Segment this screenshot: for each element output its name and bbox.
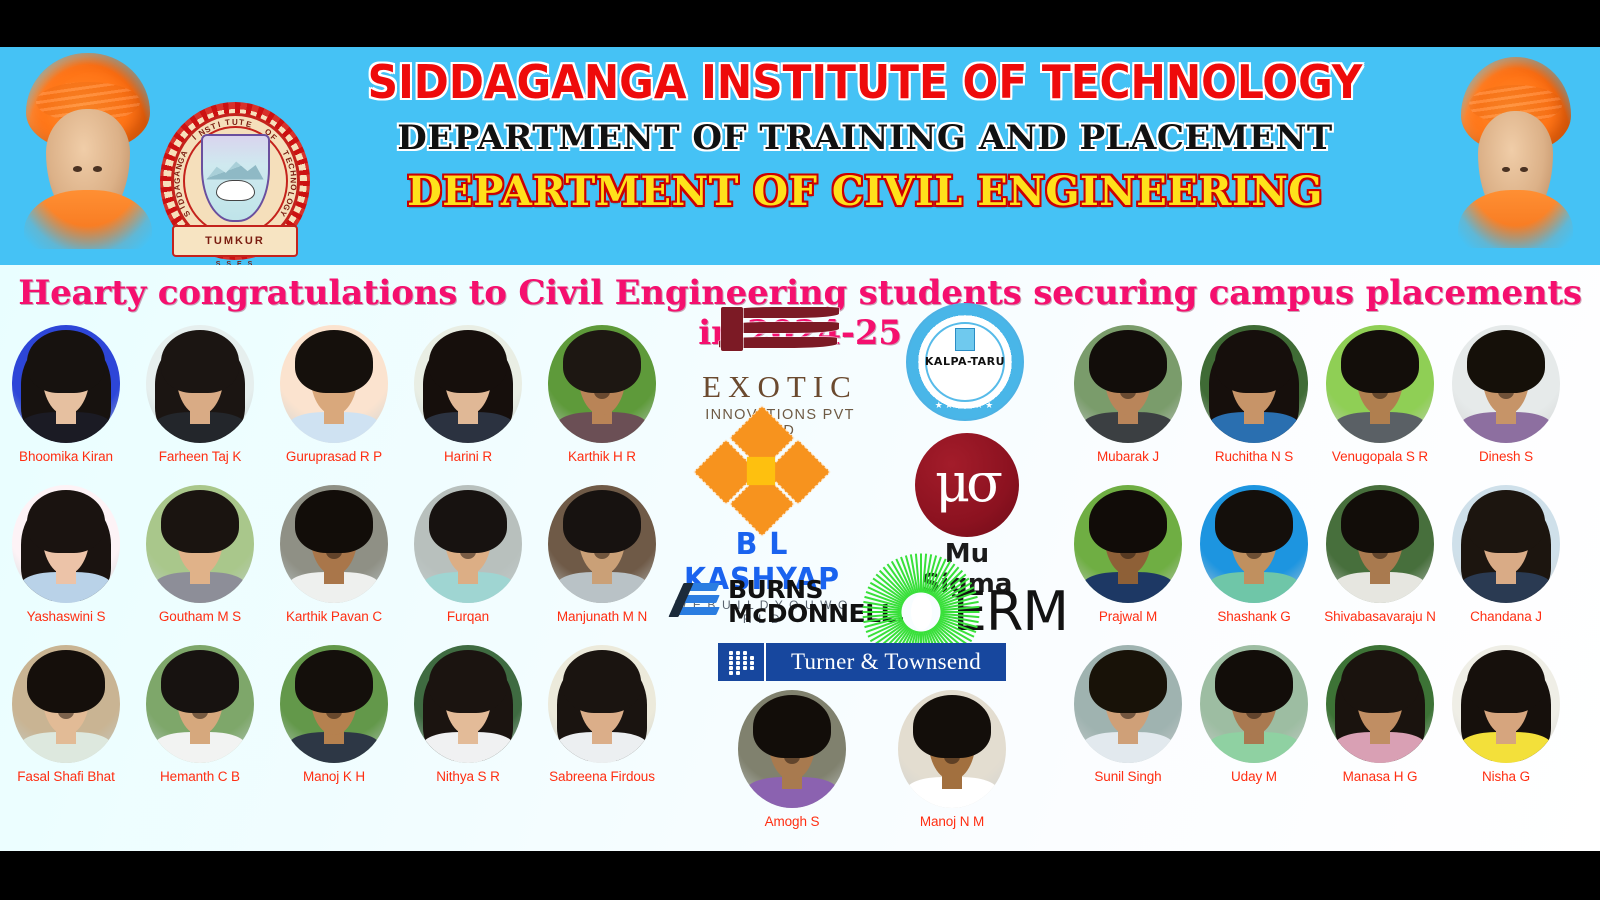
student-photo	[1200, 485, 1308, 603]
student-photo	[280, 325, 388, 443]
student-card: Ruchitha N S	[1194, 325, 1314, 464]
student-card: Chandana J	[1446, 485, 1566, 624]
logo-erm: ERM	[898, 573, 1068, 651]
student-name: Manjunath M N	[542, 609, 662, 624]
student-name: Amogh S	[732, 814, 852, 829]
student-card: Manjunath M N	[542, 485, 662, 624]
student-name: Farheen Taj K	[140, 449, 260, 464]
student-photo	[1074, 645, 1182, 763]
student-photo	[548, 485, 656, 603]
student-card: Fasal Shafi Bhat	[6, 645, 126, 784]
student-card: Furqan	[408, 485, 528, 624]
student-card: Karthik Pavan C	[274, 485, 394, 624]
student-card: Shashank G	[1194, 485, 1314, 624]
exotic-flag-icon	[715, 307, 845, 365]
sit-institute-seal-logo: SIDDAGANGA INSTITUTE OF TECHNOLOGY TUMKU…	[160, 102, 310, 260]
student-card: Prajwal M	[1068, 485, 1188, 624]
student-photo	[12, 325, 120, 443]
student-card: Goutham M S	[140, 485, 260, 624]
student-card: Shivabasavaraju N	[1320, 485, 1440, 624]
student-card: Yashaswini S	[6, 485, 126, 624]
student-photo	[898, 690, 1006, 808]
student-photo	[280, 485, 388, 603]
student-photo	[1452, 325, 1560, 443]
student-photo	[12, 645, 120, 763]
student-name: Shashank G	[1194, 609, 1314, 624]
student-photo	[146, 485, 254, 603]
logo-kalpataru-projects: KALPA-TARU ★★★★★★	[905, 303, 1025, 421]
student-name: Venugopala S R	[1320, 449, 1440, 464]
student-name: Manoj N M	[892, 814, 1012, 829]
student-name: Shivabasavaraju N	[1320, 609, 1440, 624]
turner-townsend-wordmark: Turner & Townsend	[766, 649, 1006, 675]
turner-townsend-dots-icon	[718, 643, 766, 681]
department-civil-engineering: DEPARTMENT OF CIVIL ENGINEERING	[305, 163, 1425, 221]
student-photo	[548, 645, 656, 763]
student-photo	[1326, 485, 1434, 603]
student-photo	[414, 325, 522, 443]
student-name: Dinesh S	[1446, 449, 1566, 464]
student-card: Uday M	[1194, 645, 1314, 784]
swamiji-portrait-right-photo	[1453, 57, 1578, 237]
student-card: Amogh S	[732, 690, 852, 829]
logo-burns-mcdonnell: BURNS MᴄDONNELL.	[674, 575, 874, 631]
swamiji-portrait-left-photo	[18, 53, 158, 238]
placement-poster: SIDDAGANGA INSTITUTE OF TECHNOLOGY TUMKU…	[0, 0, 1600, 900]
student-photo	[146, 325, 254, 443]
student-name: Karthik Pavan C	[274, 609, 394, 624]
student-name: Prajwal M	[1068, 609, 1188, 624]
student-name: Sabreena Firdous	[542, 769, 662, 784]
student-photo	[414, 645, 522, 763]
student-name: Bhoomika Kiran	[6, 449, 126, 464]
student-name: Furqan	[408, 609, 528, 624]
student-name: Sunil Singh	[1068, 769, 1188, 784]
student-name: Uday M	[1194, 769, 1314, 784]
student-photo	[1074, 485, 1182, 603]
student-card: Mubarak J	[1068, 325, 1188, 464]
student-photo	[414, 485, 522, 603]
student-card: Dinesh S	[1446, 325, 1566, 464]
student-name: Hemanth C B	[140, 769, 260, 784]
student-name: Mubarak J	[1068, 449, 1188, 464]
poster-header: SIDDAGANGA INSTITUTE OF TECHNOLOGY TUMKU…	[0, 47, 1600, 265]
student-card: Nithya S R	[408, 645, 528, 784]
student-name: Yashaswini S	[6, 609, 126, 624]
student-name: Manasa H G	[1320, 769, 1440, 784]
bl-kashyap-diamond-icon	[697, 415, 827, 527]
student-photo	[1074, 325, 1182, 443]
mcdonnell-wordmark: MᴄDONNELL.	[728, 599, 874, 628]
exotic-wordmark: EXOTIC	[690, 369, 870, 405]
student-photo	[1452, 645, 1560, 763]
student-card: Bhoomika Kiran	[6, 325, 126, 464]
student-name: Fasal Shafi Bhat	[6, 769, 126, 784]
student-name: Harini R	[408, 449, 528, 464]
student-photo	[738, 690, 846, 808]
student-card: Sunil Singh	[1068, 645, 1188, 784]
poster-body: Hearty congratulations to Civil Engineer…	[0, 265, 1600, 851]
student-card: Guruprasad R P	[274, 325, 394, 464]
kalpataru-wordmark: KALPA-TARU	[915, 355, 1015, 368]
student-card: Karthik H R	[542, 325, 662, 464]
institute-name: SIDDAGANGA INSTITUTE OF TECHNOLOGY	[294, 51, 1436, 113]
burns-mcdonnell-mark-icon	[674, 581, 726, 621]
student-name: Manoj K H	[274, 769, 394, 784]
seal-ribbon-text: TUMKUR	[172, 225, 298, 257]
student-photo	[1200, 325, 1308, 443]
student-name: Ruchitha N S	[1194, 449, 1314, 464]
student-name: Chandana J	[1446, 609, 1566, 624]
student-photo	[146, 645, 254, 763]
student-card: Harini R	[408, 325, 528, 464]
student-card: Farheen Taj K	[140, 325, 260, 464]
student-name: Karthik H R	[542, 449, 662, 464]
logo-turner-townsend: Turner & Townsend	[718, 643, 1006, 681]
erm-burst-icon	[898, 573, 945, 651]
header-titles: SIDDAGANGA INSTITUTE OF TECHNOLOGY DEPAR…	[305, 51, 1425, 221]
student-name: Guruprasad R P	[274, 449, 394, 464]
student-card: Sabreena Firdous	[542, 645, 662, 784]
bottom-black-band	[0, 851, 1600, 900]
student-photo	[280, 645, 388, 763]
student-card: Manoj N M	[892, 690, 1012, 829]
student-name: Goutham M S	[140, 609, 260, 624]
student-name: Nisha G	[1446, 769, 1566, 784]
student-photo	[1326, 325, 1434, 443]
student-name: Nithya S R	[408, 769, 528, 784]
top-black-band	[0, 0, 1600, 47]
mu-sigma-mark-icon: μσ	[915, 433, 1019, 537]
student-card: Nisha G	[1446, 645, 1566, 784]
student-photo	[1326, 645, 1434, 763]
student-photo	[1452, 485, 1560, 603]
department-training-placement: DEPARTMENT OF TRAINING AND PLACEMENT	[305, 113, 1425, 163]
student-photo	[12, 485, 120, 603]
kalpataru-stars-icon: ★★★★★★	[908, 400, 1022, 411]
student-photo	[548, 325, 656, 443]
student-card: Manoj K H	[274, 645, 394, 784]
student-card: Venugopala S R	[1320, 325, 1440, 464]
student-photo	[1200, 645, 1308, 763]
student-card: Manasa H G	[1320, 645, 1440, 784]
student-card: Hemanth C B	[140, 645, 260, 784]
